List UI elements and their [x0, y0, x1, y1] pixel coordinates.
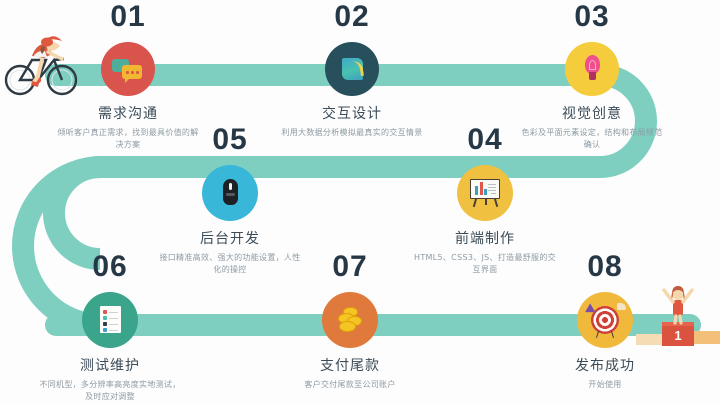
step-number: 02 [267, 2, 437, 34]
step-08[interactable]: 08 发布成功 开始使用 [520, 252, 690, 391]
step-icon-circle[interactable] [101, 42, 155, 96]
step-title: 交互设计 [267, 103, 437, 123]
infographic-canvas: 1 01 需求沟通 倾听客户真正需求，找到最具价值的解决方案 02 交互设计 利… [0, 0, 720, 405]
step-title: 前端制作 [400, 228, 570, 248]
chat-bubbles-icon [111, 52, 145, 86]
checklist-document-icon [93, 303, 127, 337]
step-description: 客户交付尾款至公司账户 [265, 379, 435, 391]
computer-mouse-icon [213, 176, 247, 210]
step-icon-circle[interactable] [322, 292, 378, 348]
step-icon-circle[interactable] [457, 165, 513, 221]
step-number: 03 [507, 2, 677, 34]
step-number: 01 [43, 2, 213, 34]
step-number: 04 [400, 125, 570, 157]
step-06[interactable]: 06 测试维护 不同机型，多分辨率高亮度实地测试，及时应对调整 [25, 252, 195, 402]
step-number: 05 [145, 125, 315, 157]
lightbulb-icon [575, 52, 609, 86]
target-dart-icon [588, 303, 622, 337]
step-icon-circle[interactable] [325, 42, 379, 96]
step-icon-circle[interactable] [202, 165, 258, 221]
step-number: 08 [520, 252, 690, 284]
step-02[interactable]: 02 交互设计 利用大数据分析模拟最真实的交互情景 [267, 2, 437, 139]
step-title: 需求沟通 [43, 103, 213, 123]
easel-chart-icon [468, 176, 502, 210]
step-number: 06 [25, 252, 195, 284]
gold-coins-icon [333, 303, 367, 337]
map-icon [335, 52, 369, 86]
step-icon-circle[interactable] [82, 292, 138, 348]
step-icon-circle[interactable] [577, 292, 633, 348]
step-title: 支付尾款 [265, 355, 435, 375]
step-icon-circle[interactable] [565, 42, 619, 96]
step-title: 测试维护 [25, 355, 195, 375]
step-description: 开始使用 [520, 379, 690, 391]
step-title: 发布成功 [520, 355, 690, 375]
step-07[interactable]: 07 支付尾款 客户交付尾款至公司账户 [265, 252, 435, 391]
step-title: 视觉创意 [507, 103, 677, 123]
step-description: 不同机型，多分辨率高亮度实地测试，及时应对调整 [25, 379, 195, 402]
step-title: 后台开发 [145, 228, 315, 248]
step-number: 07 [265, 252, 435, 284]
